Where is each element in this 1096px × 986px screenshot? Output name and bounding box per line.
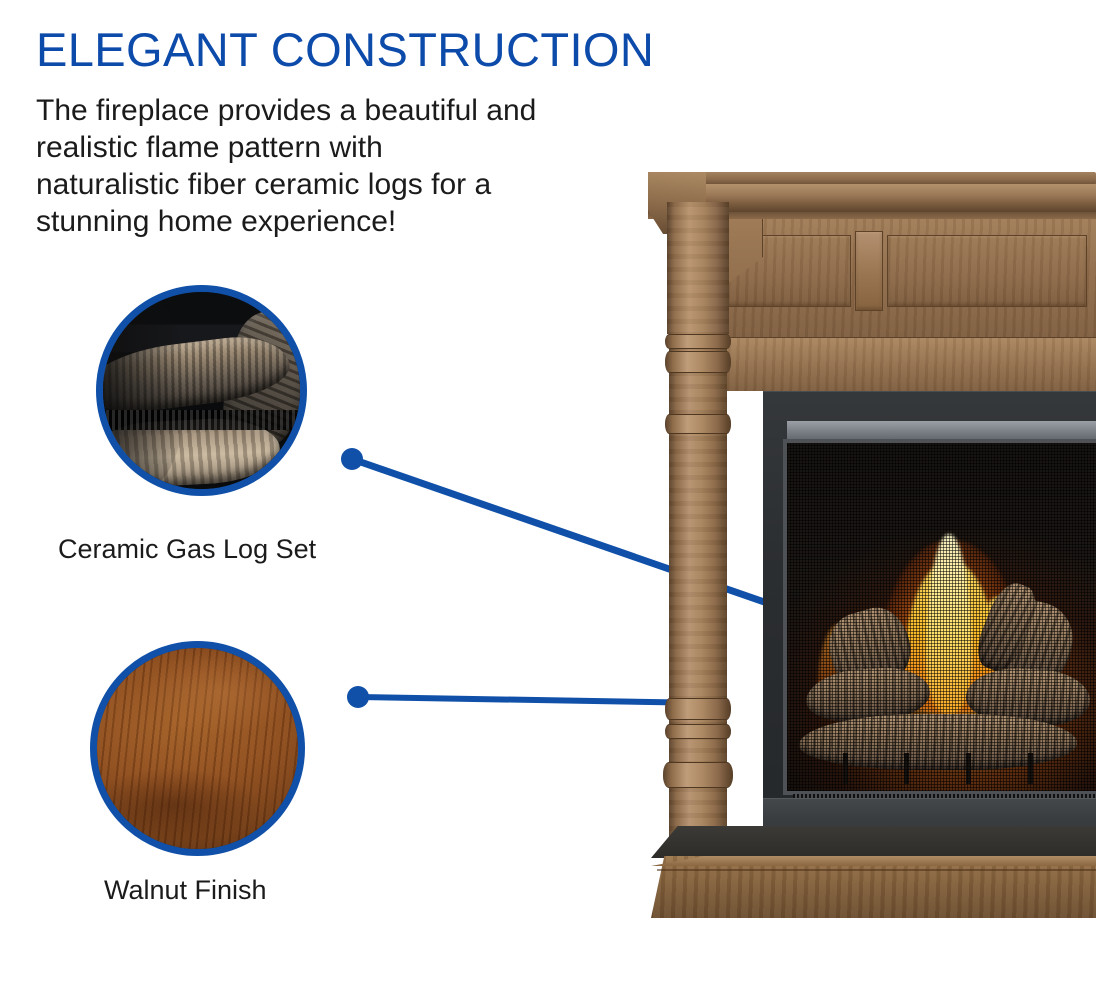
product-photo-fireplace: [643, 168, 1096, 886]
column-base-ring: [663, 762, 733, 788]
description-line: realistic flame pattern with: [36, 129, 656, 166]
leader-dot-start: [341, 448, 363, 470]
callout-caption-ceramic-gas-log-set: Ceramic Gas Log Set: [58, 533, 316, 565]
mantel-lower-rail: [701, 337, 1096, 391]
description-line: The fireplace provides a beautiful and: [36, 92, 656, 129]
mantel-keystone: [855, 231, 883, 311]
callout-image-ceramic-gas-log-set: [96, 285, 307, 496]
mantel-column-capital: [667, 202, 729, 334]
description-line: stunning home experience!: [36, 203, 656, 240]
page-title: ELEGANT CONSTRUCTION: [36, 22, 654, 78]
mantel-base-shadow: [651, 826, 1096, 858]
callout-image-walnut-finish: [90, 641, 305, 856]
column-ring: [665, 351, 731, 373]
column-ring: [665, 334, 731, 349]
log-shadow-overlay: [103, 292, 186, 489]
mantel-base-lip: [651, 856, 1096, 866]
callout-caption-walnut-finish: Walnut Finish: [104, 874, 267, 906]
walnut-swatch-photo: [97, 648, 298, 849]
leader-dot-start: [347, 686, 369, 708]
description-line: naturalistic fiber ceramic logs for a: [36, 166, 656, 203]
column-ring: [665, 698, 731, 720]
column-ring: [665, 724, 731, 739]
infographic-page: ELEGANT CONSTRUCTION The fireplace provi…: [0, 0, 1096, 986]
description-paragraph: The fireplace provides a beautiful and r…: [36, 92, 656, 240]
mantel-panel-right: [887, 235, 1087, 307]
column-ring: [665, 414, 731, 434]
firebox-glass-frame: [783, 439, 1096, 795]
ceramic-log-photo: [103, 292, 300, 489]
mantel-base-groove: [657, 869, 1096, 871]
